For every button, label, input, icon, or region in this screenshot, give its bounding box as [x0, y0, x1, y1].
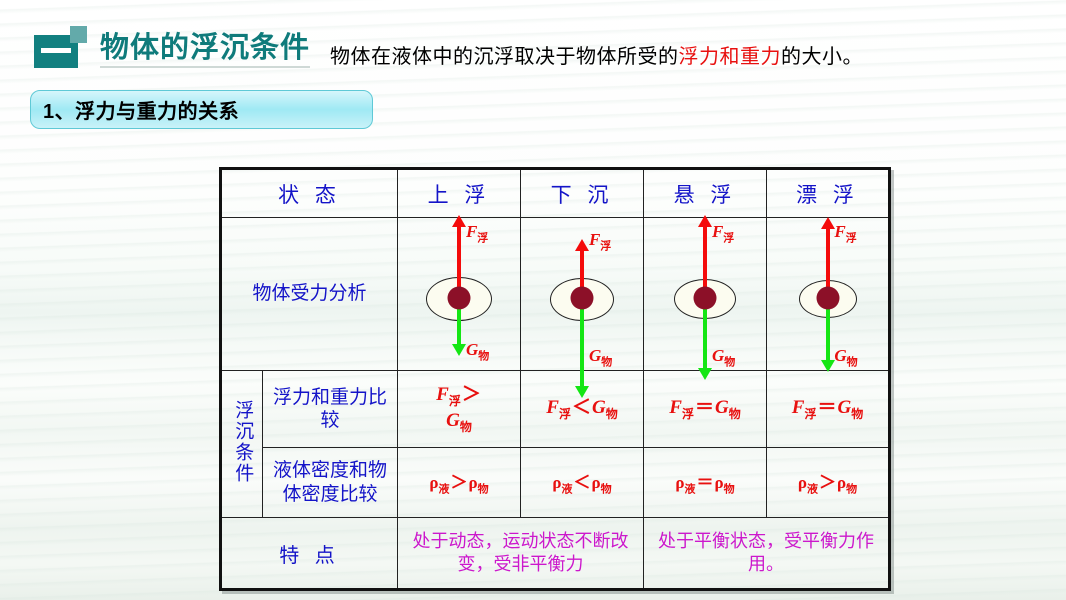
- features-label: 特 点: [279, 545, 340, 567]
- density-compare-label: 液体密度和物体密度比较: [273, 460, 387, 504]
- formula: ρ液＞ρ物: [429, 473, 488, 492]
- density-compare-cell-0: ρ液＞ρ物: [398, 448, 521, 518]
- slide-subtitle: 物体在液体中的沉浮取决于物体所受的浮力和重力的大小。: [330, 40, 863, 69]
- force-diagram-cell-0: F浮G物: [398, 218, 521, 371]
- density-compare-cell-3: ρ液＞ρ物: [767, 448, 890, 518]
- row-label-density-compare: 液体密度和物体密度比较: [263, 448, 398, 518]
- header-case-label: 下 沉: [551, 184, 614, 207]
- book-block-icon: [34, 26, 90, 68]
- formula: ρ液＝ρ物: [675, 473, 734, 492]
- buoyancy-label: F浮: [589, 230, 611, 253]
- table-row-force-compare: 浮沉条件 浮力和重力比较 F浮＞G物 F浮＜G物 F浮＝G物 F浮＝G物: [221, 371, 890, 448]
- center-of-mass-dot: [694, 287, 717, 310]
- feature-cell-0: 处于动态，运动状态不断改变，受非平衡力: [398, 518, 644, 590]
- feature-text: 处于动态，运动状态不断改变，受非平衡力: [413, 531, 629, 574]
- force-diagram: F浮G物: [647, 220, 763, 368]
- page-title: 物体的浮沉条件: [100, 34, 310, 68]
- force-diagram: F浮G物: [770, 220, 885, 368]
- logo-bar: [41, 48, 71, 53]
- formula: ρ液＞ρ物: [798, 473, 857, 492]
- buoyancy-label: F浮: [834, 222, 856, 245]
- density-compare-cell-2: ρ液＝ρ物: [644, 448, 767, 518]
- buoyancy-conditions-table: 状 态 上 浮 下 沉 悬 浮 漂 浮 物体受力分析 F浮G物 F浮G物 F浮G…: [219, 167, 891, 591]
- header-cell-case-2: 悬 浮: [644, 169, 767, 218]
- header-case-label: 漂 浮: [796, 184, 859, 207]
- formula: F浮＝G物: [792, 397, 863, 418]
- header-cell-case-3: 漂 浮: [767, 169, 890, 218]
- table-row-force-analysis: 物体受力分析 F浮G物 F浮G物 F浮G物 F浮G物: [221, 218, 890, 371]
- force-analysis-label: 物体受力分析: [252, 283, 366, 304]
- formula: F浮＞G物: [436, 384, 482, 431]
- header-cell-state: 状 态: [221, 169, 398, 218]
- row-label-conditions-group: 浮沉条件: [221, 371, 263, 518]
- force-diagram-cell-3: F浮G物: [767, 218, 890, 371]
- center-of-mass-dot: [448, 287, 471, 310]
- logo-accent-square: [70, 26, 87, 43]
- table-row-density-compare: 液体密度和物体密度比较 ρ液＞ρ物 ρ液＜ρ物 ρ液＝ρ物 ρ液＞ρ物: [221, 448, 890, 518]
- gravity-label: G物: [834, 346, 857, 369]
- header-state-label: 状 态: [278, 184, 341, 207]
- gravity-label: G物: [466, 340, 489, 363]
- center-of-mass-dot: [816, 287, 839, 310]
- slide-title-row: 物体的浮沉条件: [34, 26, 310, 68]
- force-compare-cell-3: F浮＝G物: [767, 371, 890, 448]
- section-banner: 1、浮力与重力的关系: [30, 90, 373, 129]
- force-compare-label: 浮力和重力比较: [273, 387, 387, 431]
- formula: F浮＜G物: [546, 397, 617, 418]
- header-case-label: 上 浮: [428, 184, 491, 207]
- force-diagram: F浮G物: [524, 220, 640, 368]
- force-diagram: F浮G物: [401, 220, 517, 368]
- gravity-label: G物: [589, 346, 612, 369]
- feature-text: 处于平衡状态，受平衡力作用。: [658, 531, 874, 574]
- density-compare-cell-1: ρ液＜ρ物: [521, 448, 644, 518]
- formula: ρ液＜ρ物: [552, 473, 611, 492]
- feature-cell-1: 处于平衡状态，受平衡力作用。: [644, 518, 890, 590]
- buoyancy-label: F浮: [466, 222, 488, 245]
- row-label-force-compare: 浮力和重力比较: [263, 371, 398, 448]
- table-row-features: 特 点 处于动态，运动状态不断改变，受非平衡力 处于平衡状态，受平衡力作用。: [221, 518, 890, 590]
- gravity-label: G物: [712, 346, 735, 369]
- force-diagram-cell-2: F浮G物: [644, 218, 767, 371]
- subtitle-highlight: 浮力和重力: [679, 46, 782, 68]
- force-diagram-cell-1: F浮G物: [521, 218, 644, 371]
- section-banner-label: 1、浮力与重力的关系: [43, 95, 239, 124]
- subtitle-suffix: 的大小。: [781, 46, 863, 68]
- conditions-group-label: 浮沉条件: [231, 400, 253, 484]
- buoyancy-label: F浮: [712, 222, 734, 245]
- header-cell-case-1: 下 沉: [521, 169, 644, 218]
- row-label-features: 特 点: [221, 518, 398, 590]
- force-compare-cell-2: F浮＝G物: [644, 371, 767, 448]
- table-header-row: 状 态 上 浮 下 沉 悬 浮 漂 浮: [221, 169, 890, 218]
- formula: F浮＝G物: [669, 397, 740, 418]
- header-cell-case-0: 上 浮: [398, 169, 521, 218]
- force-compare-cell-0: F浮＞G物: [398, 371, 521, 448]
- center-of-mass-dot: [571, 287, 594, 310]
- subtitle-prefix: 物体在液体中的沉浮取决于物体所受的: [330, 46, 679, 68]
- row-label-force-analysis: 物体受力分析: [221, 218, 398, 371]
- header-case-label: 悬 浮: [674, 184, 737, 207]
